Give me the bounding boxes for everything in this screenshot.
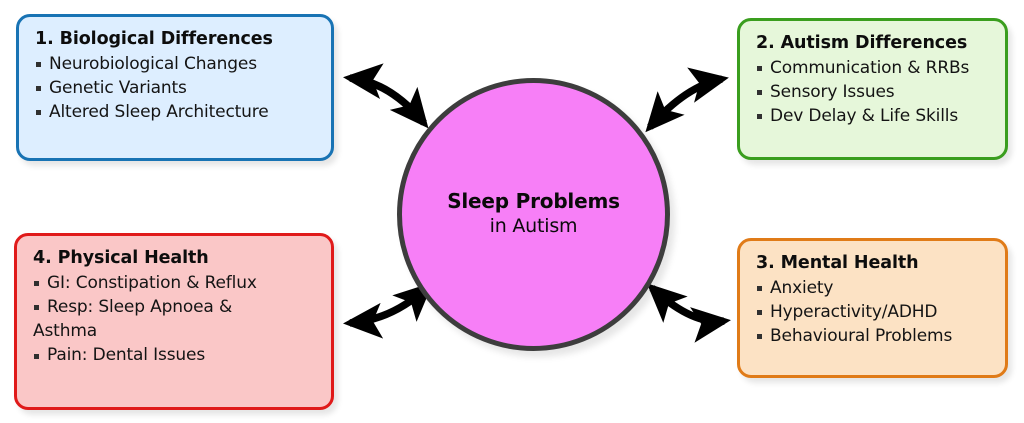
box-title-biological: 1. Biological Differences (35, 29, 317, 49)
list-item: Altered Sleep Architecture (35, 100, 317, 124)
connector-mental (652, 288, 724, 321)
box-list-biological: Neurobiological Changes Genetic Variants… (35, 52, 317, 124)
category-box-autism-differences[interactable]: 2. Autism Differences Communication & RR… (737, 18, 1008, 160)
list-item: Hyperactivity/ADHD (756, 300, 991, 324)
list-item-label: Resp: Sleep Apnoea & (47, 297, 232, 317)
list-item: Neurobiological Changes (35, 52, 317, 76)
list-item-label-continuation: Asthma (33, 319, 317, 343)
square-bullet-icon (36, 86, 41, 91)
square-bullet-icon (757, 286, 762, 291)
box-title-autism: 2. Autism Differences (756, 33, 991, 53)
list-item-label: Anxiety (770, 278, 833, 298)
list-item-label: Genetic Variants (49, 78, 187, 98)
list-item-label: Communication & RRBs (770, 58, 969, 78)
box-list-autism: Communication & RRBs Sensory Issues Dev … (756, 56, 991, 128)
list-item: Genetic Variants (35, 76, 317, 100)
list-item-label: Pain: Dental Issues (47, 345, 205, 365)
box-title-physical: 4. Physical Health (33, 248, 317, 268)
box-title-mental: 3. Mental Health (756, 253, 991, 273)
category-box-biological-differences[interactable]: 1. Biological Differences Neurobiologica… (16, 14, 334, 161)
list-item-label: Sensory Issues (770, 82, 894, 102)
square-bullet-icon (757, 66, 762, 71)
connector-biological (350, 78, 424, 123)
list-item-label: Neurobiological Changes (49, 54, 257, 74)
square-bullet-icon (757, 310, 762, 315)
box-list-mental: Anxiety Hyperactivity/ADHD Behavioural P… (756, 276, 991, 348)
list-item-label: Dev Delay & Life Skills (770, 106, 958, 126)
list-item: Communication & RRBs (756, 56, 991, 80)
square-bullet-icon (757, 334, 762, 339)
square-bullet-icon (36, 62, 41, 67)
square-bullet-icon (757, 90, 762, 95)
connector-autism (650, 79, 722, 127)
center-node-sleep-problems[interactable]: Sleep Problems in Autism (397, 78, 670, 351)
list-item: Pain: Dental Issues (33, 343, 317, 367)
category-box-physical-health[interactable]: 4. Physical Health GI: Constipation & Re… (14, 233, 334, 410)
square-bullet-icon (36, 110, 41, 115)
list-item: Sensory Issues (756, 80, 991, 104)
center-node-subtitle: in Autism (490, 214, 578, 240)
list-item: Anxiety (756, 276, 991, 300)
list-item: Behavioural Problems (756, 324, 991, 348)
list-item-label: GI: Constipation & Reflux (47, 273, 257, 293)
square-bullet-icon (34, 305, 39, 310)
diagram-canvas: 1. Biological Differences Neurobiologica… (0, 0, 1024, 423)
box-list-physical: GI: Constipation & Reflux Resp: Sleep Ap… (33, 271, 317, 368)
square-bullet-icon (757, 114, 762, 119)
list-item: GI: Constipation & Reflux (33, 271, 317, 295)
list-item-label: Behavioural Problems (770, 326, 952, 346)
category-box-mental-health[interactable]: 3. Mental Health Anxiety Hyperactivity/A… (737, 238, 1008, 378)
square-bullet-icon (34, 354, 39, 359)
center-node-title: Sleep Problems (447, 189, 620, 214)
list-item: Dev Delay & Life Skills (756, 104, 991, 128)
list-item-label: Altered Sleep Architecture (49, 102, 269, 122)
square-bullet-icon (34, 281, 39, 286)
list-item-label: Hyperactivity/ADHD (770, 302, 937, 322)
list-item: Resp: Sleep Apnoea & Asthma (33, 295, 317, 343)
connector-physical (350, 287, 428, 323)
